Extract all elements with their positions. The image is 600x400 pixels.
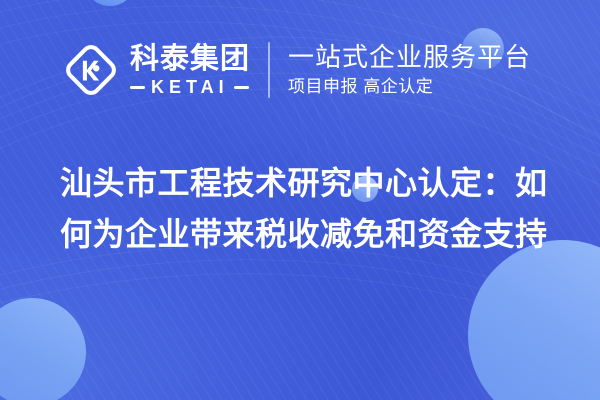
brand-name-en: KETAI <box>151 78 229 96</box>
page-title: 汕头市工程技术研究中心认定：如 何为企业带来税收减免和资金支持 <box>60 158 560 260</box>
banner-header: 科泰集团 KETAI 一站式企业服务平台 项目申报 高企认定 <box>0 0 600 140</box>
promo-banner: 科泰集团 KETAI 一站式企业服务平台 项目申报 高企认定 汕头市工程技术研究… <box>0 0 600 400</box>
ketai-logo-icon <box>62 41 120 99</box>
slogan-main-text: 一站式企业服务平台 <box>288 42 531 72</box>
header-divider <box>268 42 270 98</box>
brand-name-cn: 科泰集团 <box>130 44 250 75</box>
brand-name-en-row: KETAI <box>130 78 250 96</box>
brand-dash-left-icon <box>130 86 145 89</box>
brand-lockup[interactable]: 科泰集团 KETAI <box>62 41 250 99</box>
slogan-sub-text: 项目申报 高企认定 <box>288 76 531 97</box>
slogan-block: 一站式企业服务平台 项目申报 高企认定 <box>288 42 531 97</box>
page-title-line-1: 汕头市工程技术研究中心认定：如 <box>60 158 560 209</box>
page-title-line-2: 何为企业带来税收减免和资金支持 <box>60 209 560 260</box>
brand-text-block: 科泰集团 KETAI <box>130 44 250 96</box>
brand-dash-right-icon <box>234 86 249 89</box>
